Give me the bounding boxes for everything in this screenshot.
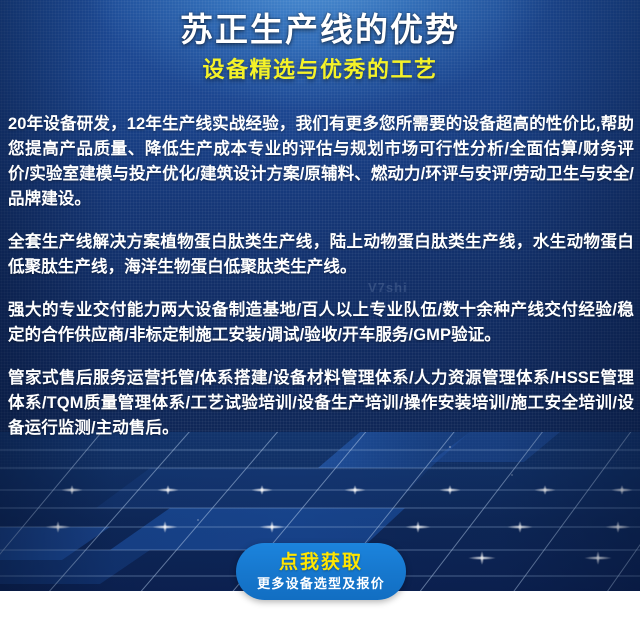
poster-header: 苏正生产线的优势 设备精选与优秀的工艺 [0,8,640,85]
cta-main-label: 点我获取 [279,551,363,574]
body-copy: 20年设备研发，12年生产线实战经验，我们有更多您所需要的设备超高的性价比,帮助… [8,112,634,441]
paragraph-capability-overview: 20年设备研发，12年生产线实战经验，我们有更多您所需要的设备超高的性价比,帮助… [8,112,634,212]
paragraph-after-sales-service: 管家式售后服务运营托管/体系搭建/设备材料管理体系/人力资源管理体系/HSSE管… [8,366,634,441]
page-title: 苏正生产线的优势 [0,8,640,52]
paragraph-delivery-capability: 强大的专业交付能力两大设备制造基地/百人以上专业队伍/数十余种产线交付经验/稳定… [8,298,634,348]
cta-sub-label: 更多设备选型及报价 [257,575,385,593]
poster-blue-panel: 苏正生产线的优势 设备精选与优秀的工艺 20年设备研发，12年生产线实战经验，我… [0,0,640,591]
cta-get-quote-button[interactable]: 点我获取 更多设备选型及报价 [236,543,406,600]
paragraph-production-lines: 全套生产线解决方案植物蛋白肽类生产线，陆上动物蛋白肽类生产线，水生动物蛋白低聚肽… [8,230,634,280]
page-subtitle: 设备精选与优秀的工艺 [0,55,640,85]
promo-poster: 苏正生产线的优势 设备精选与优秀的工艺 20年设备研发，12年生产线实战经验，我… [0,0,640,631]
